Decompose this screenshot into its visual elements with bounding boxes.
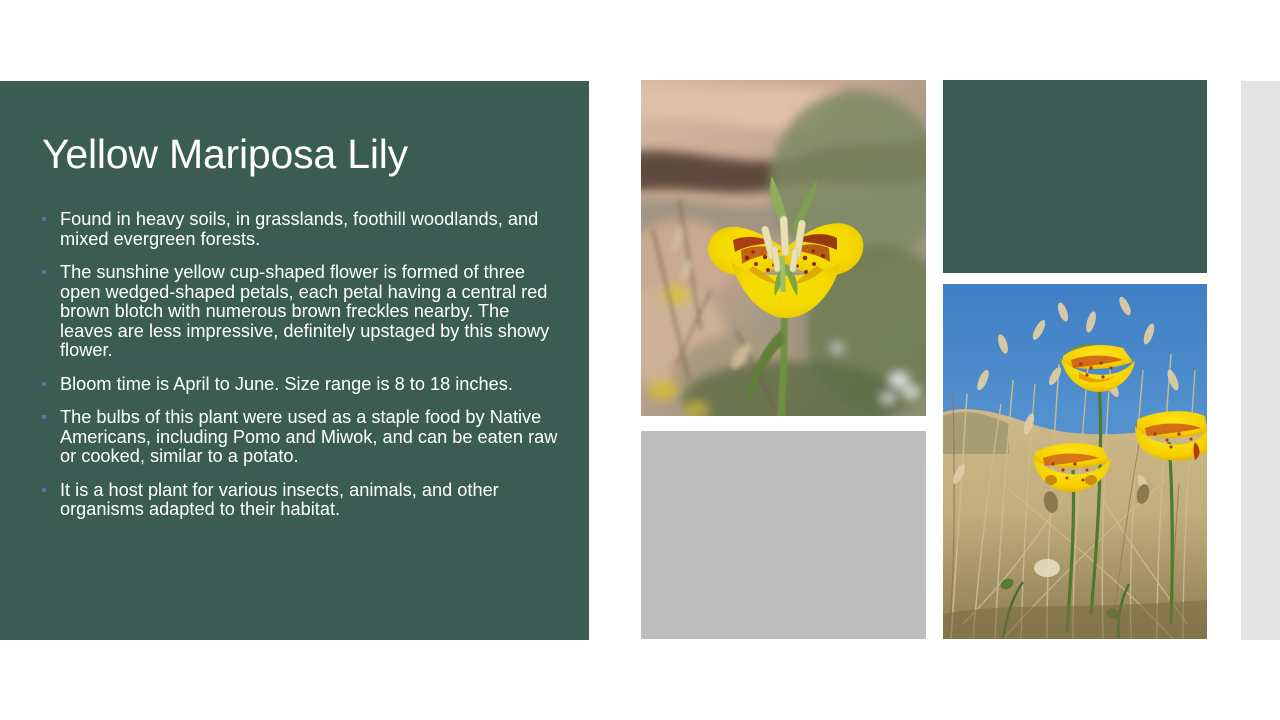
- green-color-block: [943, 80, 1207, 273]
- text-content-panel: Yellow Mariposa Lily Found in heavy soil…: [0, 81, 589, 640]
- list-item-text: The bulbs of this plant were used as a s…: [60, 407, 557, 466]
- bullet-marker-icon: [42, 415, 46, 419]
- bullet-marker-icon: [42, 488, 46, 492]
- list-item-text: It is a host plant for various insects, …: [60, 480, 499, 520]
- slide: Yellow Mariposa Lily Found in heavy soil…: [0, 0, 1280, 720]
- list-item: Found in heavy soils, in grasslands, foo…: [38, 210, 562, 249]
- list-item-text: The sunshine yellow cup-shaped flower is…: [60, 262, 549, 360]
- yellow-mariposa-lily-closeup-photo: [641, 80, 926, 416]
- bullet-marker-icon: [42, 382, 46, 386]
- bullet-list: Found in heavy soils, in grasslands, foo…: [38, 210, 562, 520]
- gray-placeholder-block: [641, 431, 926, 639]
- right-edge-strip: [1241, 81, 1280, 640]
- list-item: Bloom time is April to June. Size range …: [38, 375, 562, 395]
- bullet-marker-icon: [42, 270, 46, 274]
- bullet-marker-icon: [42, 217, 46, 221]
- list-item: It is a host plant for various insects, …: [38, 481, 562, 520]
- list-item: The sunshine yellow cup-shaped flower is…: [38, 263, 562, 361]
- lilies-grassland-illustration: [943, 284, 1207, 639]
- list-item-text: Found in heavy soils, in grasslands, foo…: [60, 209, 538, 249]
- mariposa-lilies-in-grassland-photo: [943, 284, 1207, 639]
- list-item: The bulbs of this plant were used as a s…: [38, 408, 562, 467]
- lily-closeup-illustration: [641, 80, 926, 416]
- page-title: Yellow Mariposa Lily: [42, 133, 562, 176]
- list-item-text: Bloom time is April to June. Size range …: [60, 374, 513, 394]
